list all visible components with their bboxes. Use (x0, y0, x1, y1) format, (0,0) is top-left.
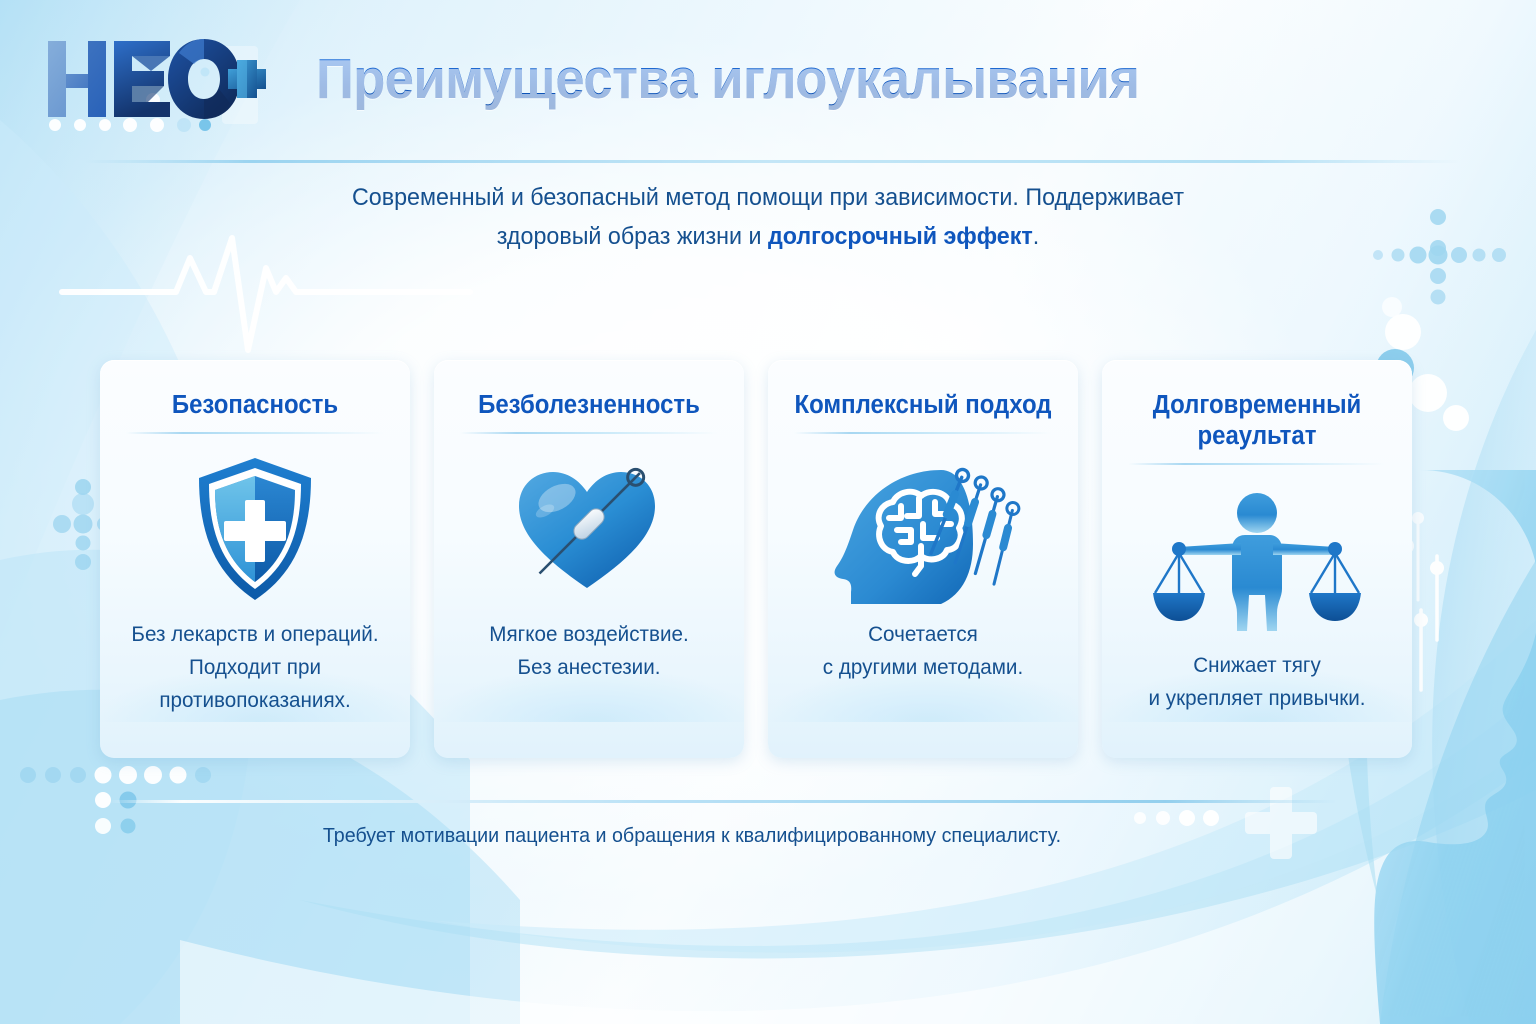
shield-cross-icon (100, 440, 410, 618)
logo-icon (44, 31, 270, 127)
card-text-line: противопоказаниях. (159, 688, 350, 712)
subtitle-line-2-suffix: . (1033, 223, 1039, 250)
header-divider (84, 160, 1460, 163)
card-text-line: Подходит при (189, 655, 321, 679)
head-brain-needles-icon (768, 440, 1078, 618)
subtitle-emphasis: долгосрочный эффект (768, 223, 1033, 250)
card-text: Мягкое воздействие. Без анестезии. (456, 618, 723, 684)
card-text-line: Сочетается (868, 622, 978, 646)
card-divider (1128, 463, 1386, 465)
card-divider (460, 432, 718, 434)
page-title: Преимущества иглоукалывания (316, 46, 1139, 112)
card-text-line: и укрепляет привычки. (1149, 686, 1366, 710)
card-text-line: с другими методами. (823, 655, 1023, 679)
benefit-card-complex-approach[interactable]: Комплексный подход (768, 360, 1078, 758)
card-title: Комплексный подход (790, 390, 1055, 421)
card-text-line: Без лекарств и операций. (131, 622, 378, 646)
card-title: Безболезненность (456, 390, 721, 421)
card-title: Долговременный реаультат (1124, 390, 1389, 452)
footer-note: Требует мотивации пациента и обращения к… (28, 824, 1357, 848)
balance-scales-figure-icon (1102, 471, 1412, 649)
card-text: Без лекарств и операций. Подходит при пр… (122, 618, 389, 717)
subtitle-line-1: Современный и безопасный метод помощи пр… (352, 184, 1184, 211)
neo-plus-logo (44, 31, 270, 127)
card-text-line: Снижает тягу (1193, 653, 1321, 677)
heart-needle-icon (434, 440, 744, 618)
card-divider (126, 432, 384, 434)
benefit-card-long-term-result[interactable]: Долговременный реаультат (1102, 360, 1412, 758)
card-divider (794, 432, 1052, 434)
footer-divider (108, 800, 1338, 803)
subtitle-line-2-prefix: здоровый образ жизни и (497, 223, 768, 250)
subtitle: Современный и безопасный метод помощи пр… (293, 178, 1243, 256)
card-text: Сочетается с другими методами. (790, 618, 1057, 684)
benefit-cards: Безопасность (100, 360, 1436, 758)
poster-header: Преимущества иглоукалывания (0, 0, 1536, 158)
card-title: Безопасность (122, 390, 387, 421)
benefit-card-painless[interactable]: Безболезненность (434, 360, 744, 758)
benefit-card-safety[interactable]: Безопасность (100, 360, 410, 758)
card-text-line: Без анестезии. (518, 655, 661, 679)
card-text-line: Мягкое воздействие. (489, 622, 688, 646)
large-plus-decoration (1245, 787, 1317, 859)
card-text: Снижает тягу и укрепляет привычки. (1124, 649, 1391, 715)
dotted-cross-top-right (1373, 209, 1506, 305)
infographic-poster: Преимущества иглоукалывания Современный … (0, 0, 1536, 1024)
